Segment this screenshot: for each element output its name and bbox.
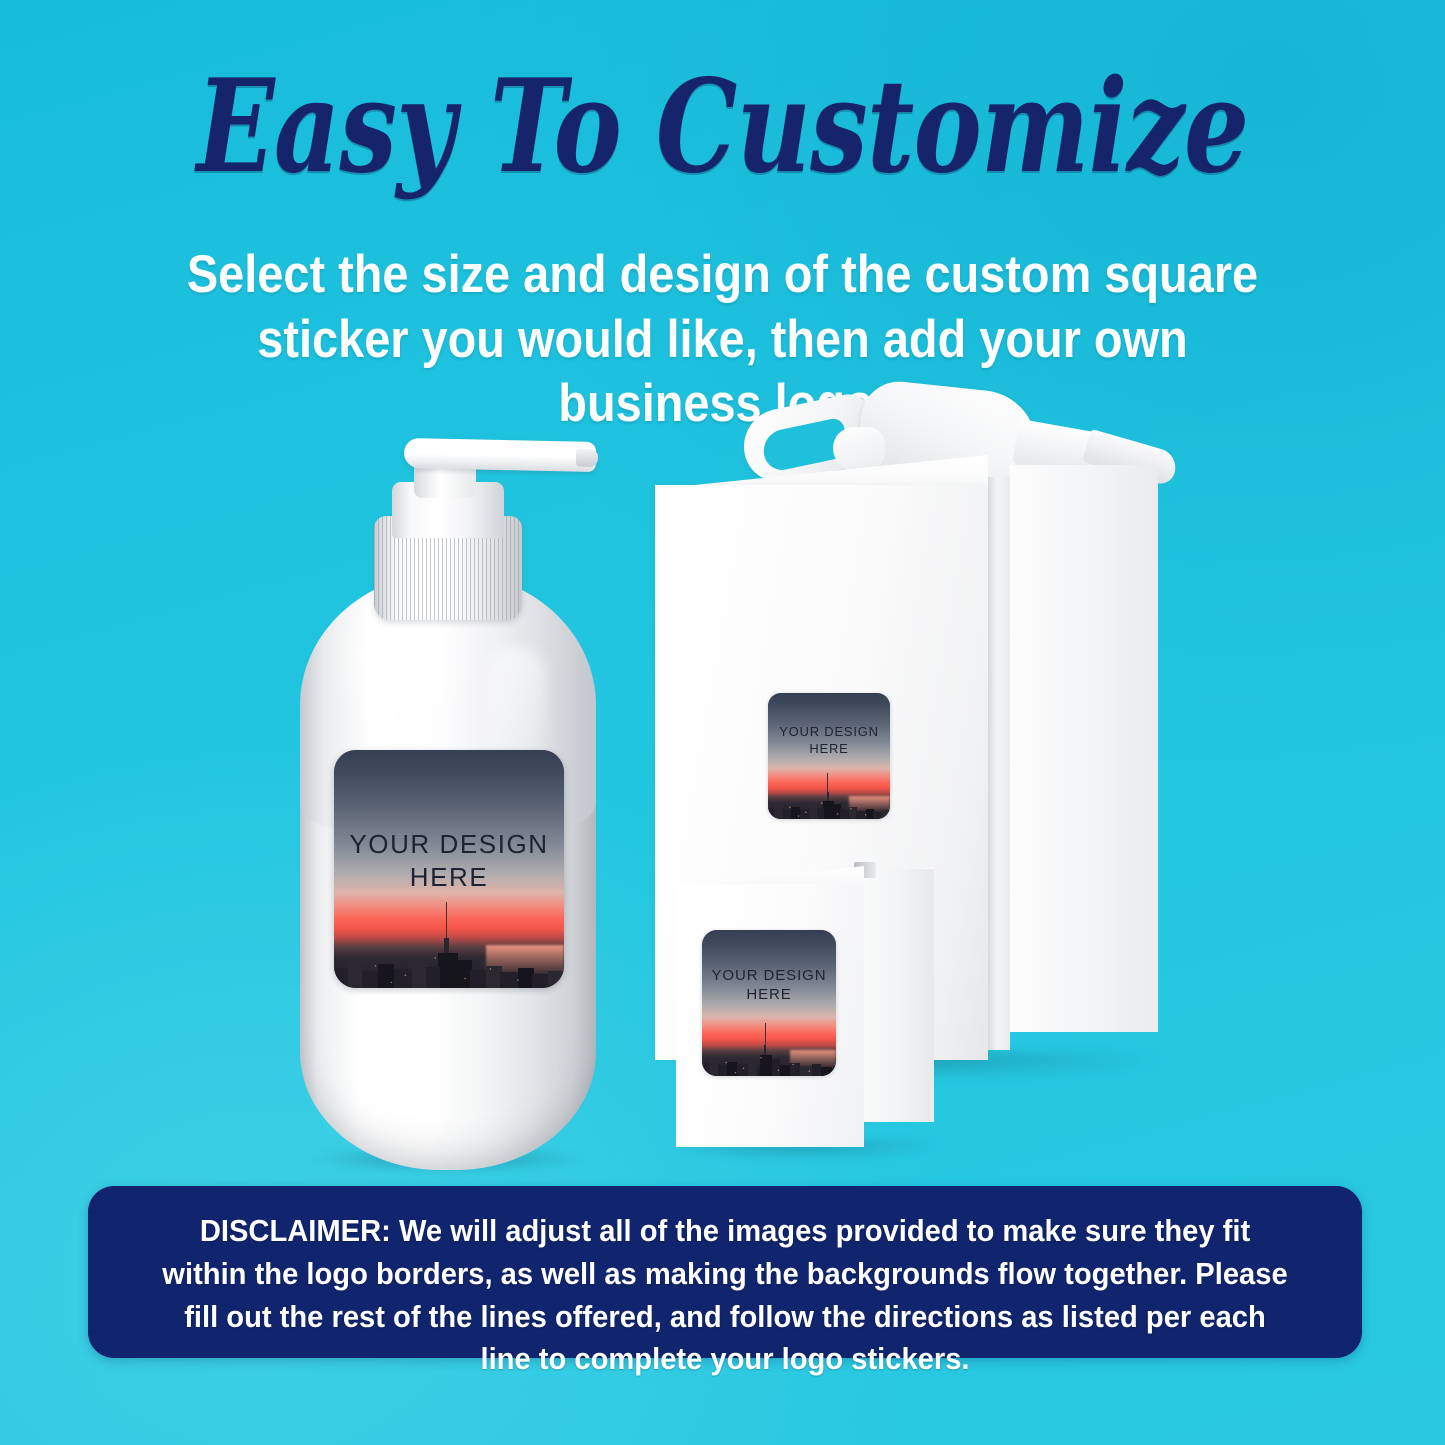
sticker-city-lights <box>768 777 890 819</box>
sticker-caption: YOUR DESIGN HERE <box>768 724 890 757</box>
bottle-pump-nozzle <box>404 438 597 472</box>
gift-box-side-panel <box>1010 465 1158 1032</box>
small-box-sticker: YOUR DESIGN HERE <box>702 930 836 1076</box>
sticker-skyline <box>768 777 890 819</box>
gift-box-sticker: YOUR DESIGN HERE <box>768 693 890 819</box>
bottle-label-sticker: YOUR DESIGN HERE <box>334 750 564 988</box>
sticker-caption-line2: HERE <box>746 986 791 1003</box>
sticker-caption-line1: YOUR DESIGN <box>712 967 827 984</box>
sticker-caption-line2: HERE <box>410 862 488 892</box>
page-title: Easy To Customize <box>145 62 1301 193</box>
pump-bottle-product: YOUR DESIGN HERE <box>292 432 604 1172</box>
sticker-skyline <box>702 1028 836 1076</box>
ribbon-knot <box>833 427 885 471</box>
promo-banner: Easy To Customize Select the size and de… <box>0 0 1445 1445</box>
disclaimer-text: DISCLAIMER: We will adjust all of the im… <box>126 1186 1324 1381</box>
gift-box-seam <box>988 477 1010 1050</box>
sticker-caption: YOUR DESIGN HERE <box>702 966 836 1004</box>
small-box-side-panel <box>864 869 934 1122</box>
sticker-caption-line2: HERE <box>809 741 848 756</box>
sticker-caption: YOUR DESIGN HERE <box>334 828 564 895</box>
disclaimer-label: DISCLAIMER: <box>200 1213 391 1248</box>
sticker-city-lights <box>334 909 564 988</box>
sticker-caption-line1: YOUR DESIGN <box>349 829 548 859</box>
sticker-city-lights <box>702 1028 836 1076</box>
small-box-product: YOUR DESIGN HERE <box>676 866 956 1156</box>
sticker-skyline <box>334 909 564 988</box>
disclaimer-banner: DISCLAIMER: We will adjust all of the im… <box>88 1186 1362 1358</box>
sticker-caption-line1: YOUR DESIGN <box>779 724 879 739</box>
